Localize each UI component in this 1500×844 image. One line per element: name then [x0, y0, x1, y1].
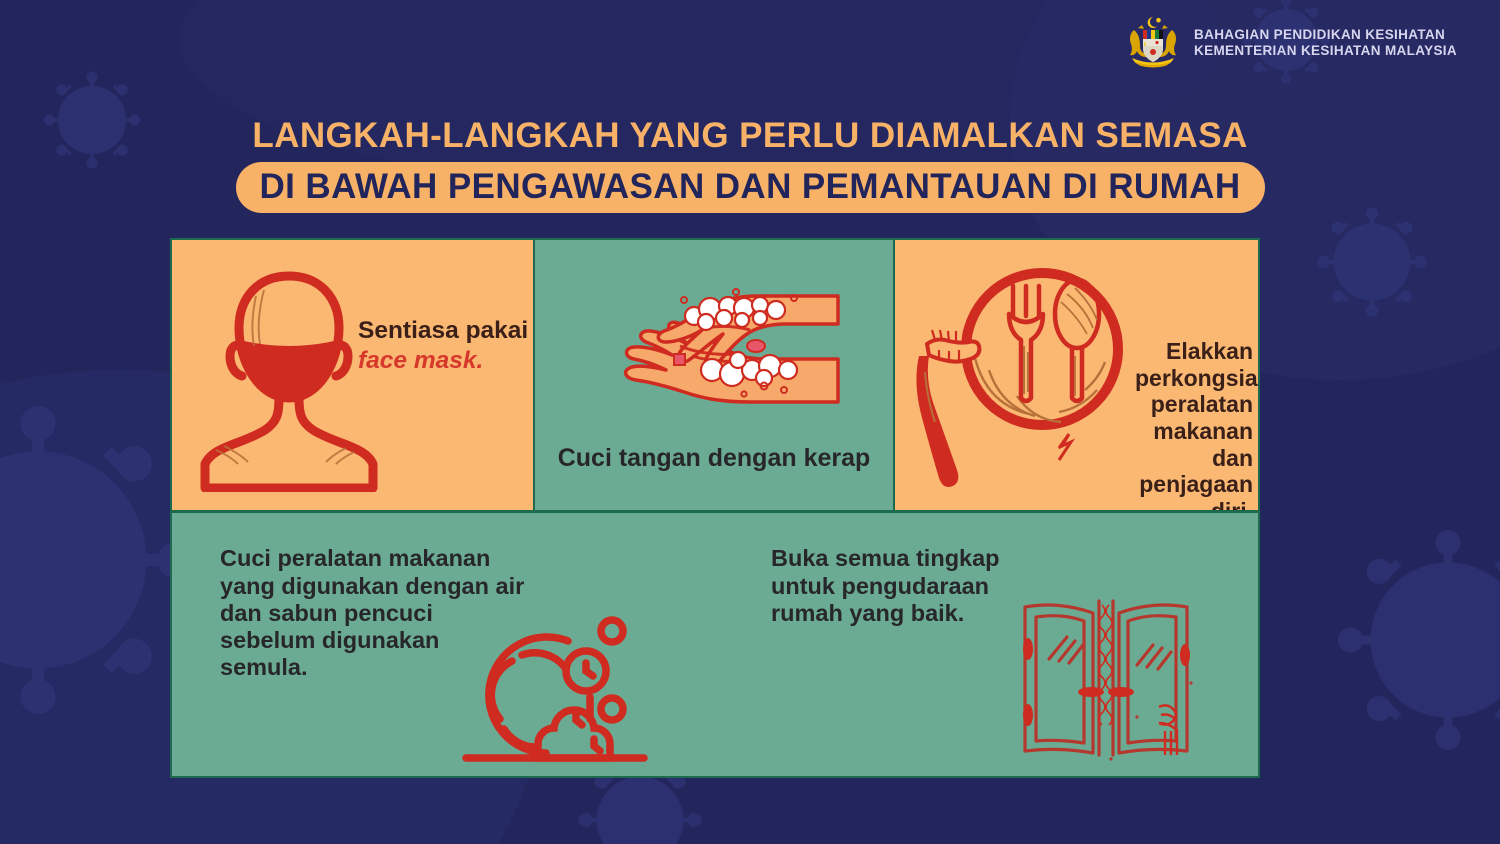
line-5: semula. — [220, 654, 308, 680]
line-4: makanan dan — [1153, 418, 1253, 471]
panel-open-windows: Buka semua tingkap untuk pengudaraan rum… — [717, 513, 1258, 776]
advice-board: Sentiasa pakai face mask. — [170, 238, 1260, 778]
panel-no-sharing-utensils-text: Elakkan perkongsian peralatan makanan da… — [1135, 338, 1253, 510]
panel-wash-utensils: Cuci peralatan makanan yang digunakan de… — [172, 513, 717, 776]
line-2: perkongsian — [1135, 365, 1258, 391]
malaysia-coat-of-arms-icon — [1122, 14, 1184, 72]
line-3: peralatan — [1151, 391, 1253, 417]
washing-hands-icon — [588, 282, 846, 407]
line-2: untuk pengudaraan — [771, 573, 989, 599]
panel-no-sharing-utensils: Elakkan perkongsian peralatan makanan da… — [895, 240, 1258, 510]
panel-open-windows-text: Buka semua tingkap untuk pengudaraan rum… — [771, 545, 1000, 627]
line-1: Cuci peralatan makanan — [220, 545, 490, 571]
panel-wash-hands: Cuci tangan dengan kerap — [535, 240, 895, 510]
panel-face-mask: Sentiasa pakai face mask. — [172, 240, 535, 510]
org-line-2: KEMENTERIAN KESIHATAN MALAYSIA — [1194, 43, 1457, 59]
line-1: Buka semua tingkap — [771, 545, 1000, 571]
line-4: sebelum digunakan — [220, 627, 439, 653]
title-line-2-pill: DI BAWAH PENGAWASAN DAN PEMANTAUAN DI RU… — [236, 162, 1265, 213]
panel-wash-hands-caption: Cuci tangan dengan kerap — [535, 444, 893, 473]
line-1: Elakkan — [1166, 338, 1253, 364]
ministry-name-block: BAHAGIAN PENDIDIKAN KESIHATAN KEMENTERIA… — [1194, 27, 1457, 59]
advice-row-bottom: Cuci peralatan makanan yang digunakan de… — [172, 510, 1258, 776]
open-window-icon — [1019, 597, 1194, 762]
org-line-1: BAHAGIAN PENDIDIKAN KESIHATAN — [1194, 27, 1457, 43]
line-3: rumah yang baik. — [771, 600, 964, 626]
title-line-1: LANGKAH-LANGKAH YANG PERLU DIAMALKAN SEM… — [0, 118, 1500, 153]
plate-cutlery-toothbrush-icon — [909, 262, 1134, 492]
line-3: dan sabun pencuci — [220, 600, 433, 626]
line-5: penjagaan diri. — [1139, 471, 1253, 510]
dish-soap-foam-icon — [460, 613, 650, 768]
advice-row-top: Sentiasa pakai face mask. — [172, 240, 1258, 510]
panel-face-mask-text: Sentiasa pakai face mask. — [358, 317, 528, 376]
ministry-logo-block: BAHAGIAN PENDIDIKAN KESIHATAN KEMENTERIA… — [1122, 14, 1457, 72]
page-title: LANGKAH-LANGKAH YANG PERLU DIAMALKAN SEM… — [0, 118, 1500, 213]
panel-face-mask-text-emphasis: face mask. — [358, 347, 528, 375]
line-2: yang digunakan dengan air — [220, 573, 524, 599]
masked-person-icon — [194, 262, 384, 492]
panel-face-mask-text-main: Sentiasa pakai — [358, 317, 528, 344]
